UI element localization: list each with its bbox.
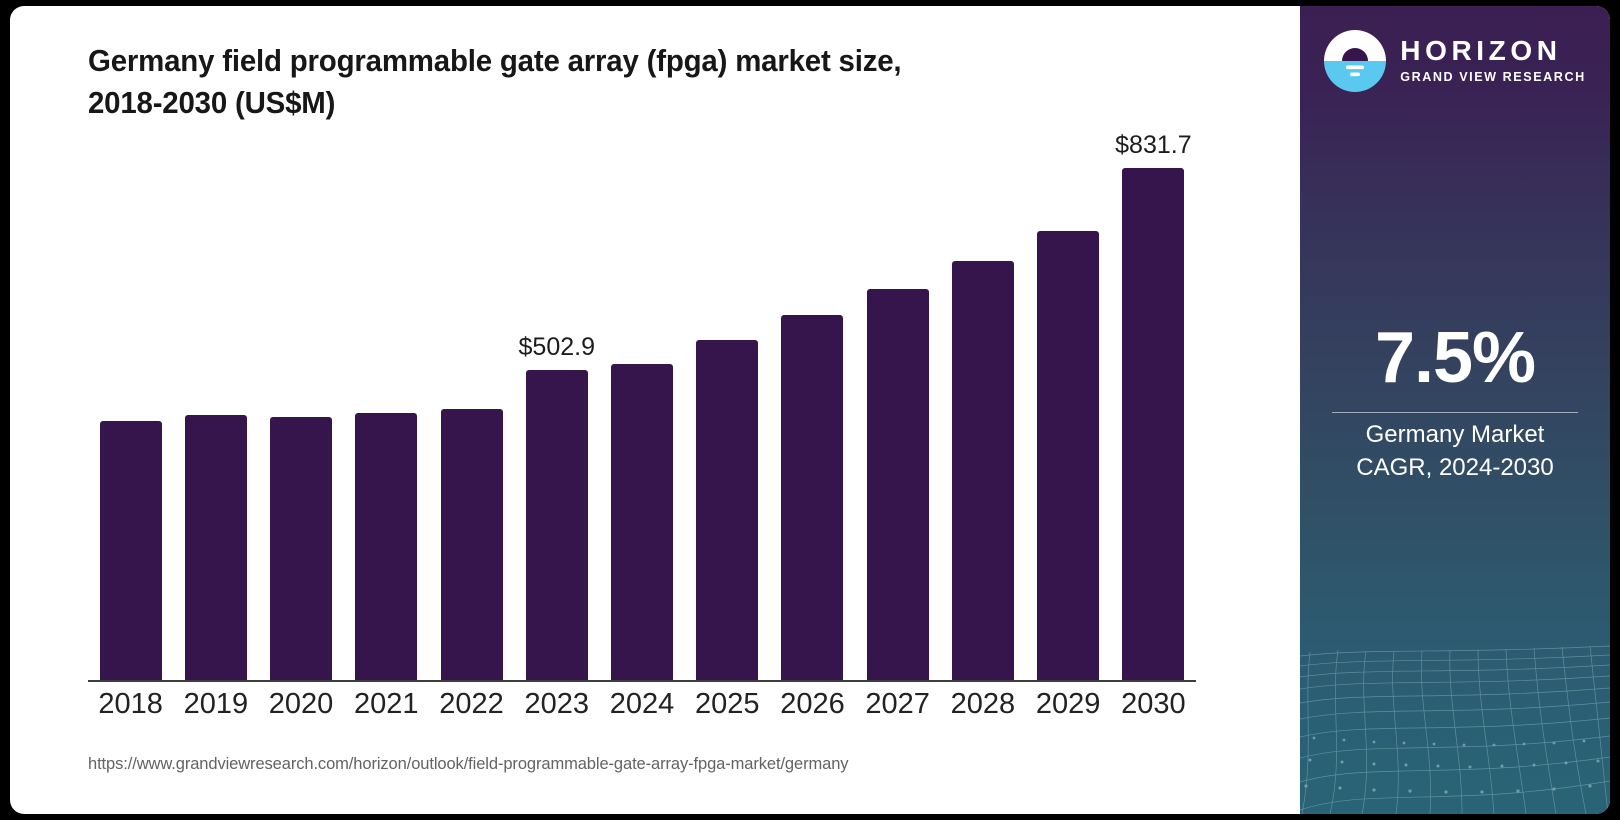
bar-2019[interactable] [185, 415, 247, 680]
bar-2029[interactable] [1037, 231, 1099, 680]
x-axis-tick-2024: 2024 [599, 688, 684, 721]
logo-primary-text: HORIZON [1400, 36, 1585, 66]
x-axis-tick-2022: 2022 [429, 688, 514, 721]
x-axis-tick-2019: 2019 [173, 688, 258, 721]
bar-2025[interactable] [696, 340, 758, 680]
bar-slot [258, 126, 343, 680]
bar-slot: $831.7 [1111, 126, 1196, 680]
bar-2021[interactable] [355, 413, 417, 680]
bar-chart-plot: 20182019202020212022$502.920232024202520… [88, 126, 1196, 682]
bar-slot [88, 126, 173, 680]
x-axis-tick-2030: 2030 [1111, 688, 1196, 721]
x-axis-tick-2021: 2021 [344, 688, 429, 721]
bar-2022[interactable] [441, 409, 503, 680]
source-url[interactable]: https://www.grandviewresearch.com/horizo… [88, 755, 848, 774]
bar-slot [1026, 126, 1111, 680]
x-axis-tick-2023: 2023 [514, 688, 599, 721]
bar-value-label: $831.7 [1058, 131, 1248, 160]
x-axis-tick-2028: 2028 [940, 688, 1025, 721]
bar-slot [429, 126, 514, 680]
bar-2024[interactable] [611, 364, 673, 680]
x-axis-tick-2027: 2027 [855, 688, 940, 721]
cagr-value: 7.5% [1300, 317, 1610, 399]
bar-2026[interactable] [781, 315, 843, 680]
bar-slot [599, 126, 684, 680]
wireframe-grid-graphic [1300, 624, 1610, 814]
x-axis-tick-2020: 2020 [258, 688, 343, 721]
bar-slot [685, 126, 770, 680]
chart-card: Germany field programmable gate array (f… [10, 6, 1610, 814]
logo: HORIZON GRAND VIEW RESEARCH [1300, 30, 1610, 92]
bar-slot [855, 126, 940, 680]
bar-2018[interactable] [100, 421, 162, 680]
logo-secondary-text: GRAND VIEW RESEARCH [1400, 68, 1585, 86]
chart-area: Germany field programmable gate array (f… [10, 6, 1300, 814]
cagr-caption: Germany Market CAGR, 2024-2030 [1300, 418, 1610, 484]
bar-slot: $502.9 [514, 126, 599, 680]
bar-2023[interactable] [526, 370, 588, 680]
x-axis-tick-2029: 2029 [1026, 688, 1111, 721]
bar-2030[interactable] [1122, 168, 1184, 680]
bar-slot [344, 126, 429, 680]
x-axis-tick-2018: 2018 [88, 688, 173, 721]
page-title: Germany field programmable gate array (f… [88, 40, 1150, 124]
horizon-sunset-circle-icon [1324, 30, 1386, 92]
bar-slot [940, 126, 1025, 680]
cagr-divider [1332, 412, 1578, 413]
bar-slot [770, 126, 855, 680]
x-axis-line [88, 680, 1196, 682]
x-axis-tick-2026: 2026 [770, 688, 855, 721]
bar-2028[interactable] [952, 261, 1014, 680]
logo-wordmark: HORIZON GRAND VIEW RESEARCH [1400, 36, 1585, 86]
bar-2020[interactable] [270, 417, 332, 680]
bar-slot [173, 126, 258, 680]
bar-2027[interactable] [867, 289, 929, 680]
side-panel: HORIZON GRAND VIEW RESEARCH 7.5% Germany… [1300, 6, 1610, 814]
x-axis-tick-2025: 2025 [685, 688, 770, 721]
